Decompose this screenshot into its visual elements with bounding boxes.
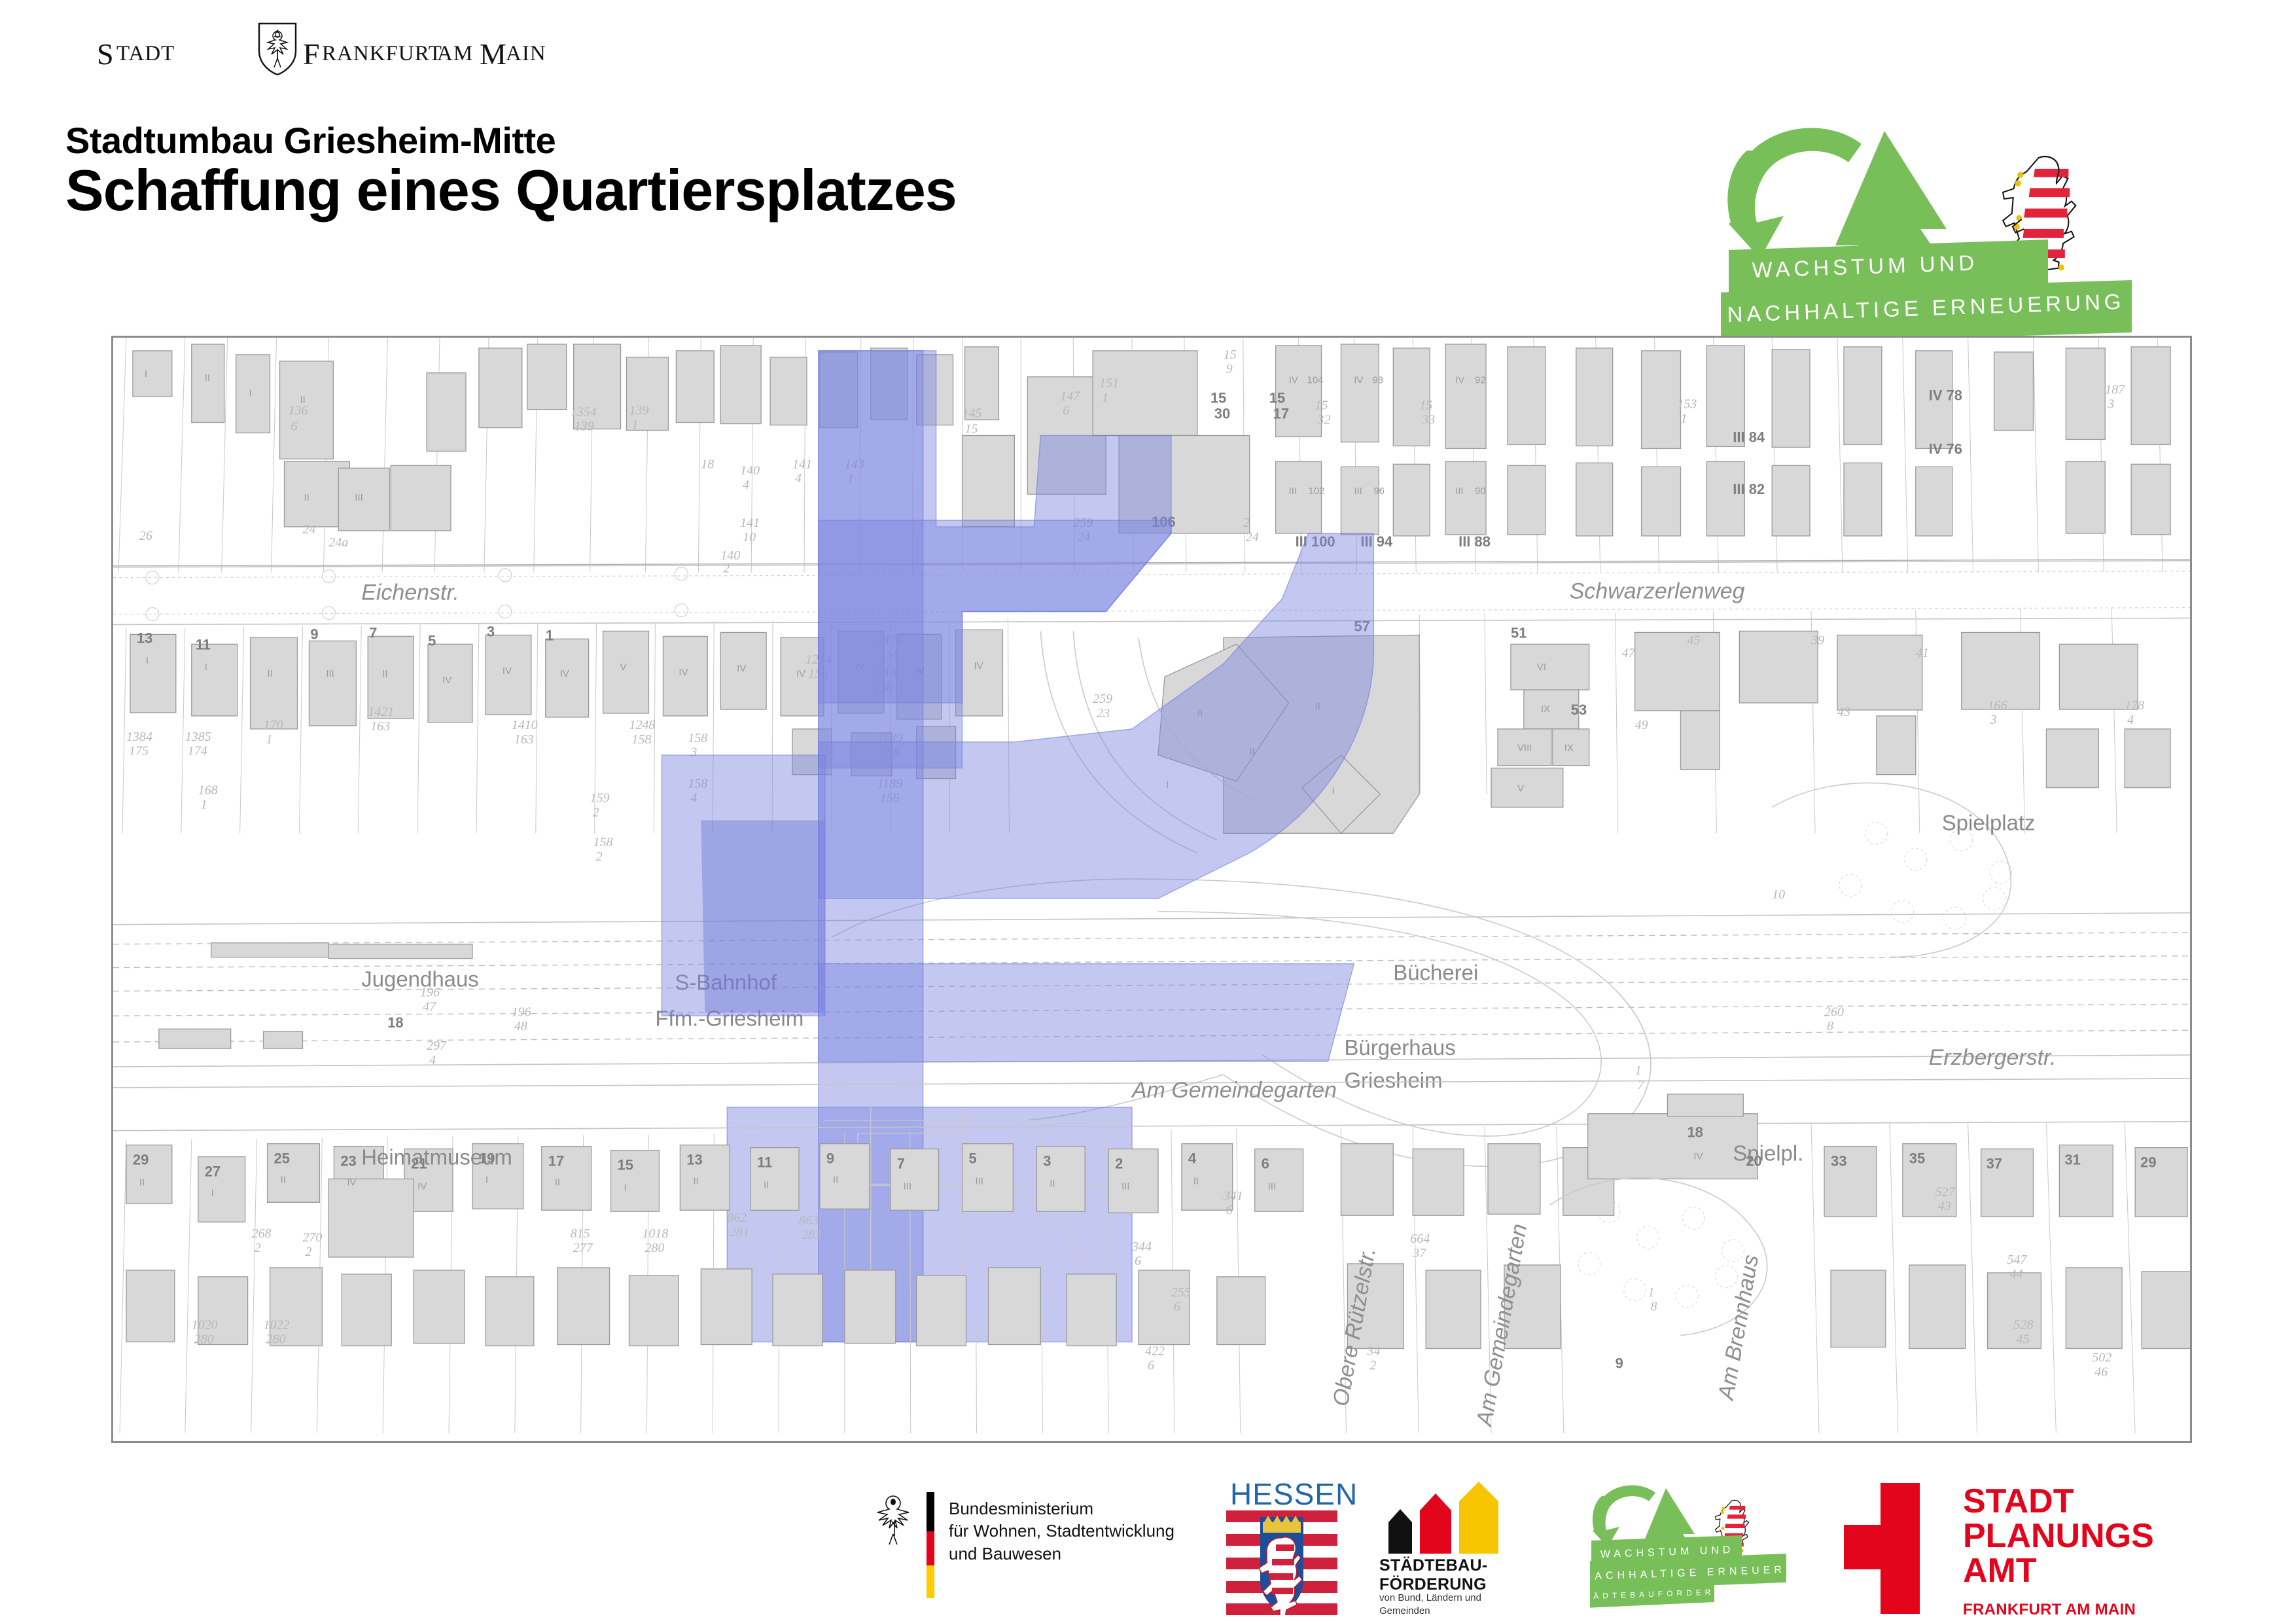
logo-program-small: WACHSTUM UND NACHHALTIGE ERNEUERUNG STÄD… [1590,1472,1786,1623]
svg-text:153: 153 [1677,397,1697,412]
svg-text:2: 2 [596,849,603,864]
svg-text:46: 46 [2094,1364,2108,1379]
city-logo-part-1: TADT [116,42,175,66]
svg-text:1: 1 [266,732,273,747]
svg-text:IV: IV [1289,375,1298,386]
svg-text:I: I [624,1182,627,1193]
svg-text:527: 527 [1935,1185,1956,1199]
svg-text:11: 11 [757,1154,772,1171]
svg-text:140: 140 [740,463,760,478]
svg-text:141: 141 [740,516,760,530]
spa-line-3: AMT [1963,1554,2154,1588]
svg-text:23: 23 [340,1153,356,1169]
svg-text:2: 2 [593,805,599,819]
svg-text:29: 29 [2140,1154,2156,1171]
svg-text:281: 281 [730,1225,749,1240]
svg-text:163: 163 [370,719,390,734]
svg-text:III: III [326,668,334,679]
svg-text:I: I [205,662,207,673]
svg-text:II: II [281,1174,286,1185]
svg-text:V: V [620,662,627,673]
svg-text:49: 49 [1635,718,1648,732]
svg-text:7: 7 [1638,1078,1645,1092]
poi-label-spielpl: Spielpl. [1733,1141,1803,1166]
svg-text:15: 15 [618,1156,633,1173]
cadastral-map[interactable]: III III IIIII IV104 IV98 IV92 III102 III… [111,336,2192,1443]
svg-text:6: 6 [291,419,297,434]
svg-text:136: 136 [288,404,308,418]
bmw-line-1: Bundesministerium [949,1497,1174,1520]
stadtplanungsamt-mark-icon [1832,1483,1950,1614]
staedtebau-sub-1: von Bund, Ländern und [1379,1592,1481,1605]
svg-text:III: III [1122,1181,1129,1192]
svg-text:24: 24 [302,522,315,537]
svg-text:6: 6 [1063,404,1069,418]
svg-text:II: II [139,1177,145,1188]
svg-text:270: 270 [302,1230,322,1245]
street-label-am-brennhaus: Am Brennhaus [1713,1253,1763,1402]
poi-label-spielplatz: Spielplatz [1942,810,2036,834]
flag-stripe-gold [927,1565,934,1598]
svg-text:166: 166 [1988,698,2007,713]
svg-text:2: 2 [1243,516,1250,530]
svg-text:I: I [145,368,147,380]
svg-text:I: I [146,655,149,666]
svg-text:187: 187 [2105,383,2125,397]
svg-text:18: 18 [1687,1124,1703,1141]
svg-text:9: 9 [1616,1355,1623,1371]
svg-text:II: II [764,1179,769,1190]
city-logo-part-3: RANKFURT [322,42,442,66]
svg-text:2: 2 [1115,1155,1123,1171]
svg-text:196: 196 [420,985,440,999]
svg-text:17: 17 [1273,406,1289,422]
svg-text:158: 158 [688,731,707,745]
svg-text:145: 145 [963,406,982,421]
svg-text:1: 1 [1680,412,1687,426]
svg-text:13: 13 [137,630,152,646]
svg-text:98: 98 [1372,375,1383,386]
svg-text:2: 2 [255,1241,261,1255]
svg-text:51: 51 [1511,624,1527,641]
svg-text:9: 9 [826,1150,834,1167]
svg-text:24a: 24a [328,535,348,550]
svg-text:104: 104 [1307,375,1324,386]
svg-text:260: 260 [1824,1005,1844,1019]
svg-text:IV 78: IV 78 [1929,387,1962,404]
svg-text:5: 5 [969,1150,977,1167]
svg-text:158: 158 [632,732,652,747]
svg-text:4: 4 [795,471,802,486]
svg-text:6: 6 [1148,1358,1154,1372]
svg-text:I: I [486,1174,488,1185]
svg-text:30: 30 [1214,406,1230,422]
svg-text:IV: IV [347,1177,356,1188]
svg-text:6: 6 [1135,1254,1141,1268]
svg-text:1354: 1354 [571,405,597,419]
svg-text:48: 48 [514,1019,527,1033]
svg-text:13: 13 [686,1152,702,1168]
svg-text:1022: 1022 [264,1318,290,1332]
svg-text:II: II [1193,1175,1199,1186]
svg-text:15: 15 [1224,348,1237,362]
svg-text:III: III [355,492,362,503]
logo-bundesministerium: Bundesministerium für Wohnen, Stadtentwi… [870,1472,1210,1623]
svg-text:2: 2 [723,562,730,576]
staedtebau-line-1: STÄDTEBAU- [1379,1556,1488,1575]
svg-text:23: 23 [1097,706,1110,721]
svg-text:II: II [268,668,273,679]
svg-text:II: II [693,1175,698,1186]
svg-text:297: 297 [427,1039,447,1053]
svg-text:18: 18 [701,457,714,471]
svg-text:1020: 1020 [192,1318,218,1332]
svg-text:VI: VI [1537,662,1546,673]
spa-sub: FRANKFURT AM MAIN [1963,1601,2136,1619]
svg-text:15: 15 [1419,399,1432,413]
svg-text:174: 174 [188,744,207,758]
svg-text:III: III [1455,486,1463,497]
poi-label-griesheim: Griesheim [1344,1068,1442,1092]
svg-text:9: 9 [310,626,318,642]
svg-text:IV: IV [1693,1151,1703,1162]
svg-text:II: II [304,492,309,503]
svg-text:34: 34 [1366,1344,1380,1358]
svg-text:37: 37 [1412,1246,1426,1260]
svg-text:175: 175 [129,744,149,758]
city-logo-part-4: AM [437,42,473,66]
svg-text:35: 35 [1909,1150,1925,1167]
city-logo-wordmark: S TADT F RANKFURT AM M AIN [97,37,516,73]
city-logo-part-6: AIN [506,42,546,66]
svg-text:5: 5 [428,632,436,649]
logo-stadtplanungsamt: STADT PLANUNGS AMT FRANKFURT AM MAIN [1832,1472,2238,1623]
svg-text:24: 24 [1246,530,1259,544]
spa-line-2: PLANUNGS [1963,1519,2154,1554]
svg-text:528: 528 [2014,1318,2034,1332]
footer-logos: Bundesministerium für Wohnen, Stadtentwi… [0,1472,2296,1623]
svg-text:III 82: III 82 [1733,481,1765,497]
poi-label-heimatmuseum: Heimatmuseum [361,1145,512,1169]
svg-text:90: 90 [1475,486,1486,497]
svg-text:502: 502 [2092,1350,2111,1364]
svg-text:422: 422 [1145,1344,1165,1358]
svg-text:1: 1 [1648,1285,1655,1300]
svg-text:II: II [555,1177,560,1188]
svg-text:2: 2 [1369,1358,1376,1372]
svg-text:III 88: III 88 [1458,533,1491,550]
svg-text:I: I [1332,786,1334,797]
street-label-schwarzerlenweg: Schwarzerlenweg [1570,579,1745,604]
svg-text:547: 547 [2007,1253,2028,1267]
svg-text:4: 4 [429,1053,436,1067]
svg-text:III 84: III 84 [1733,429,1765,445]
svg-text:6: 6 [1174,1300,1180,1314]
svg-text:IV: IV [679,667,688,678]
svg-text:6: 6 [1262,1155,1269,1171]
svg-text:37: 37 [1987,1155,2002,1171]
city-logo-part-5: M [480,37,507,71]
poi-label-buergerhaus: Bürgerhaus [1344,1035,1455,1060]
svg-text:25: 25 [274,1150,290,1167]
svg-text:4: 4 [743,478,749,492]
svg-text:147: 147 [1060,389,1080,404]
poi-label-buecherei: Bücherei [1393,961,1478,985]
svg-text:III: III [976,1175,983,1186]
svg-text:15: 15 [1210,390,1226,406]
svg-text:15: 15 [1269,390,1285,406]
svg-text:IV: IV [417,1181,427,1192]
svg-text:IV 76: IV 76 [1929,440,1962,457]
svg-text:344: 344 [1131,1240,1152,1254]
svg-text:4: 4 [1188,1150,1197,1167]
svg-text:280: 280 [645,1241,664,1255]
svg-text:47: 47 [423,999,436,1014]
svg-text:2: 2 [305,1245,311,1259]
svg-text:33: 33 [1421,413,1435,427]
svg-text:1: 1 [1635,1063,1642,1078]
svg-text:III: III [904,1181,911,1192]
svg-text:II: II [205,372,210,383]
svg-text:18: 18 [387,1014,403,1031]
svg-text:44: 44 [2010,1267,2023,1281]
svg-text:IV: IV [974,660,983,671]
svg-text:I: I [249,388,252,399]
svg-text:815: 815 [571,1226,590,1241]
svg-text:4: 4 [2127,713,2134,727]
svg-text:196: 196 [512,1005,531,1019]
svg-text:139: 139 [574,419,594,434]
svg-text:31: 31 [2064,1152,2080,1168]
svg-text:41: 41 [1916,646,1929,660]
svg-text:29: 29 [133,1152,149,1168]
svg-text:IV: IV [503,666,512,677]
svg-text:11: 11 [196,636,211,652]
svg-text:7: 7 [897,1155,905,1171]
page-title: Schaffung eines Quartiersplatzes [65,157,957,224]
svg-text:7: 7 [369,624,377,641]
svg-text:277: 277 [573,1241,593,1255]
svg-text:10: 10 [743,530,756,544]
bmw-line-3: und Bauwesen [949,1543,1174,1565]
svg-text:1421: 1421 [368,705,394,719]
svg-text:1384: 1384 [126,730,152,744]
svg-text:III: III [1354,486,1362,497]
svg-text:8: 8 [1827,1019,1833,1033]
svg-text:45: 45 [2017,1332,2030,1347]
logo-staedtebaufoerderung: STÄDTEBAU- FÖRDERUNG von Bund, Ländern u… [1368,1472,1551,1623]
flag-stripe-black [927,1492,934,1531]
staedtebau-sub-2: Gemeinden [1379,1605,1481,1618]
svg-text:33: 33 [1831,1153,1846,1169]
svg-text:168: 168 [198,783,218,798]
city-logo-part-2: F [303,37,321,71]
svg-text:47: 47 [1622,646,1636,660]
street-label-am-gemeindegarten: Am Gemeindegarten [1131,1078,1337,1103]
svg-text:43: 43 [1837,705,1850,719]
svg-text:IV: IV [1354,375,1363,386]
svg-text:1: 1 [632,418,639,433]
svg-text:664: 664 [1410,1232,1430,1246]
svg-text:17: 17 [548,1153,564,1169]
svg-text:102: 102 [1309,486,1325,497]
svg-text:170: 170 [264,718,283,732]
svg-text:53: 53 [1571,702,1587,718]
city-logo-part-0: S [97,37,115,71]
svg-text:1: 1 [546,627,554,643]
svg-text:II: II [382,668,387,679]
svg-text:163: 163 [514,732,534,747]
hessen-coat-of-arms-icon [1226,1510,1337,1615]
street-labels-south: Am Gemeindegarten Erzbergerstr. Obere Rü… [361,810,2056,1429]
svg-text:141: 141 [792,457,812,471]
svg-text:II: II [833,1174,838,1185]
svg-text:255: 255 [1171,1285,1191,1300]
svg-text:139: 139 [629,404,649,418]
svg-text:159: 159 [590,791,610,805]
svg-text:26: 26 [139,529,152,543]
bundesadler-icon [870,1491,916,1563]
svg-text:96: 96 [1373,486,1385,497]
svg-text:IV: IV [442,675,451,686]
svg-text:IX: IX [1564,743,1574,754]
svg-text:158: 158 [593,835,613,849]
svg-text:39: 39 [1810,633,1824,647]
svg-text:178: 178 [2125,698,2144,713]
street-label-erzbergerstr: Erzbergerstr. [1929,1045,2057,1070]
svg-text:1410: 1410 [512,718,538,732]
hessen-wordmark: HESSEN [1230,1476,1358,1512]
svg-text:45: 45 [1687,633,1700,647]
svg-text:IV: IV [560,668,569,679]
svg-text:268: 268 [252,1226,272,1241]
svg-text:III: III [1268,1181,1276,1192]
svg-text:863: 863 [799,1213,819,1228]
svg-text:3: 3 [1990,713,1997,727]
street-label-eichenstr: Eichenstr. [361,580,459,605]
svg-text:92: 92 [1475,375,1486,386]
svg-text:1385: 1385 [185,730,211,744]
svg-text:341: 341 [1223,1188,1243,1203]
svg-text:1: 1 [1102,391,1108,405]
svg-text:VIII: VIII [1517,743,1532,754]
svg-text:15: 15 [965,421,978,436]
svg-text:151: 151 [1099,376,1119,391]
svg-text:3: 3 [2107,397,2114,412]
three-houses-icon [1379,1482,1510,1554]
svg-text:I: I [211,1187,214,1198]
city-logo: S TADT F RANKFURT AM M AIN [97,34,516,75]
bmw-line-2: für Wohnen, Stadtentwicklung [949,1520,1174,1542]
svg-text:8: 8 [1651,1300,1657,1314]
svg-text:9: 9 [1226,362,1233,376]
svg-text:1018: 1018 [642,1226,668,1241]
street-eichenstr-schwarzerlenweg: Eichenstr. Schwarzerlenweg [113,561,2190,625]
svg-text:3: 3 [1043,1153,1051,1169]
spa-line-1: STADT [1963,1484,2154,1519]
svg-text:32: 32 [1317,413,1331,427]
svg-text:V: V [1517,783,1524,794]
svg-text:II: II [1050,1178,1055,1189]
svg-text:10: 10 [1772,887,1785,902]
svg-text:280: 280 [266,1332,286,1347]
svg-text:6: 6 [1226,1203,1233,1217]
svg-text:IV: IV [796,668,805,679]
svg-text:283: 283 [802,1228,821,1242]
svg-text:43: 43 [1938,1199,1951,1213]
logo-hessen: HESSEN [1217,1472,1341,1623]
svg-text:140: 140 [720,548,740,563]
svg-text:15: 15 [1315,399,1328,413]
svg-text:280: 280 [194,1332,214,1347]
svg-text:1: 1 [201,797,207,811]
svg-text:III: III [1289,486,1297,497]
project-subtitle: Stadtumbau Griesheim-Mitte [65,119,556,162]
svg-text:3: 3 [487,623,495,639]
svg-text:IV: IV [1455,375,1464,386]
flag-stripe-red [927,1531,934,1565]
svg-text:27: 27 [205,1163,221,1179]
svg-text:1248: 1248 [629,718,656,732]
svg-text:862: 862 [727,1211,747,1225]
svg-text:IX: IX [1541,704,1550,715]
svg-text:259: 259 [1093,692,1112,706]
frankfurt-eagle-crest-icon [257,22,298,76]
svg-text:IV: IV [737,663,746,674]
